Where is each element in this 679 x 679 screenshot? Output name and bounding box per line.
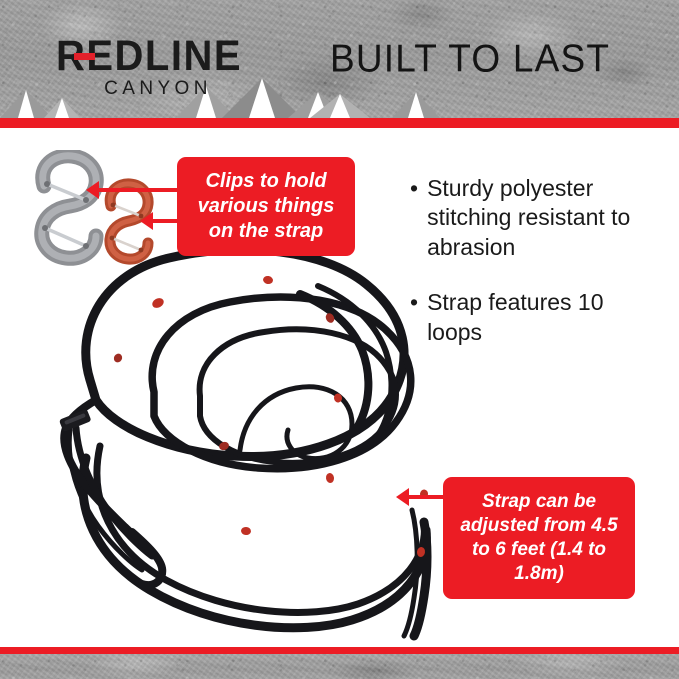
leader-line-strap-length xyxy=(408,495,446,499)
feature-list-item: • Sturdy polyester stitching resistant t… xyxy=(410,174,658,262)
leader-arrowhead-carabiner-large xyxy=(86,181,99,199)
footer-red-divider xyxy=(0,647,679,654)
feature-list: • Sturdy polyester stitching resistant t… xyxy=(410,174,658,373)
feature-list-item-text: Sturdy polyester stitching resistant to … xyxy=(427,174,658,262)
header-banner: REDLINE CANYON BUILT TO LAST xyxy=(0,0,679,118)
feature-list-item: • Strap features 10 loops xyxy=(410,288,658,347)
footer-concrete-speckle-overlay xyxy=(0,654,679,679)
carabiner-large xyxy=(42,156,97,258)
brand-logo: REDLINE CANYON xyxy=(34,36,264,98)
product-infographic: REDLINE CANYON BUILT TO LAST xyxy=(0,0,679,679)
bullet-dot-icon: • xyxy=(410,288,418,347)
brand-logo-secondary-text: CANYON xyxy=(34,79,264,98)
brand-logo-accent-bar xyxy=(74,53,95,60)
bullet-dot-icon: • xyxy=(410,174,418,262)
header-red-divider xyxy=(0,118,679,128)
leader-line-carabiner-large xyxy=(98,188,180,192)
callout-clips-text: Clips to hold various things on the stra… xyxy=(185,169,347,243)
footer-banner xyxy=(0,654,679,679)
callout-strap-length-text: Strap can be adjusted from 4.5 to 6 feet… xyxy=(451,490,627,586)
callout-strap-length: Strap can be adjusted from 4.5 to 6 feet… xyxy=(443,477,635,599)
leader-arrowhead-strap-length xyxy=(396,488,409,506)
leader-arrowhead-carabiner-small xyxy=(140,212,153,230)
header-headline: BUILT TO LAST xyxy=(330,37,610,81)
leader-line-carabiner-small xyxy=(152,219,180,223)
callout-clips: Clips to hold various things on the stra… xyxy=(177,157,355,256)
feature-list-item-text: Strap features 10 loops xyxy=(427,288,658,347)
